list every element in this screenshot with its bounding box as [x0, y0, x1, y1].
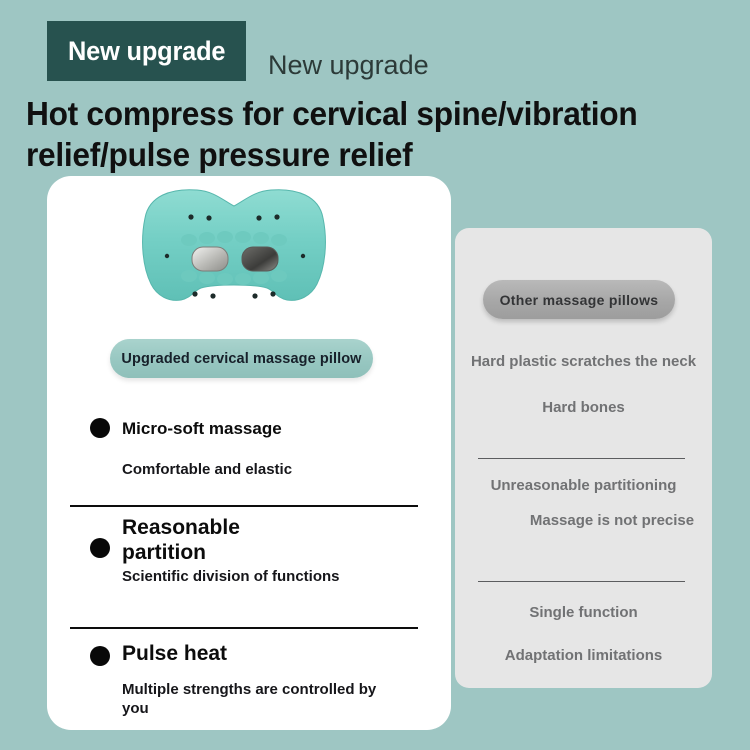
other-pillows-pill: Other massage pillows	[483, 280, 675, 319]
con-item-sub-2: Massage is not precise	[512, 511, 712, 531]
con-item-main-3: Single function	[455, 603, 712, 623]
bullet-dot-icon	[90, 418, 110, 438]
feature-title: Pulse heat	[122, 642, 227, 667]
comparison-panel: Other massage pillows Hard plastic scrat…	[455, 228, 712, 688]
feature-description: Multiple strengths are controlled by you	[122, 681, 402, 719]
feature-divider-1	[70, 505, 418, 507]
massage-pillow-illustration	[127, 184, 342, 319]
bullet-dot-icon	[90, 646, 110, 666]
product-image	[127, 184, 342, 319]
feature-divider-2	[70, 627, 418, 629]
other-pillows-pill-label: Other massage pillows	[500, 292, 659, 308]
page-title: Hot compress for cervical spine/vibratio…	[26, 93, 688, 176]
feature-title: Micro-soft massage	[122, 419, 282, 439]
new-upgrade-badge-label: New upgrade	[68, 36, 225, 67]
con-item-sub-1: Hard bones	[455, 398, 712, 418]
bullet-dot-icon	[90, 538, 110, 558]
feature-title: Reasonable partition	[122, 516, 292, 566]
header-subtitle: New upgrade	[268, 50, 429, 81]
upgraded-pillow-pill-label: Upgraded cervical massage pillow	[121, 351, 361, 367]
promo-poster: New upgrade New upgrade Hot compress for…	[0, 0, 750, 750]
con-item-main-1: Hard plastic scratches the neck	[455, 352, 712, 372]
product-card: Upgraded cervical massage pillow Micro-s…	[47, 176, 451, 730]
feature-description: Comfortable and elastic	[122, 461, 292, 480]
panel-divider-1	[478, 458, 685, 459]
upgraded-pillow-pill: Upgraded cervical massage pillow	[110, 339, 373, 378]
new-upgrade-badge: New upgrade	[47, 21, 246, 81]
con-item-main-2: Unreasonable partitioning	[455, 476, 712, 496]
feature-description: Scientific division of functions	[122, 568, 352, 587]
panel-divider-2	[478, 581, 685, 582]
con-item-sub-3: Adaptation limitations	[455, 646, 712, 666]
